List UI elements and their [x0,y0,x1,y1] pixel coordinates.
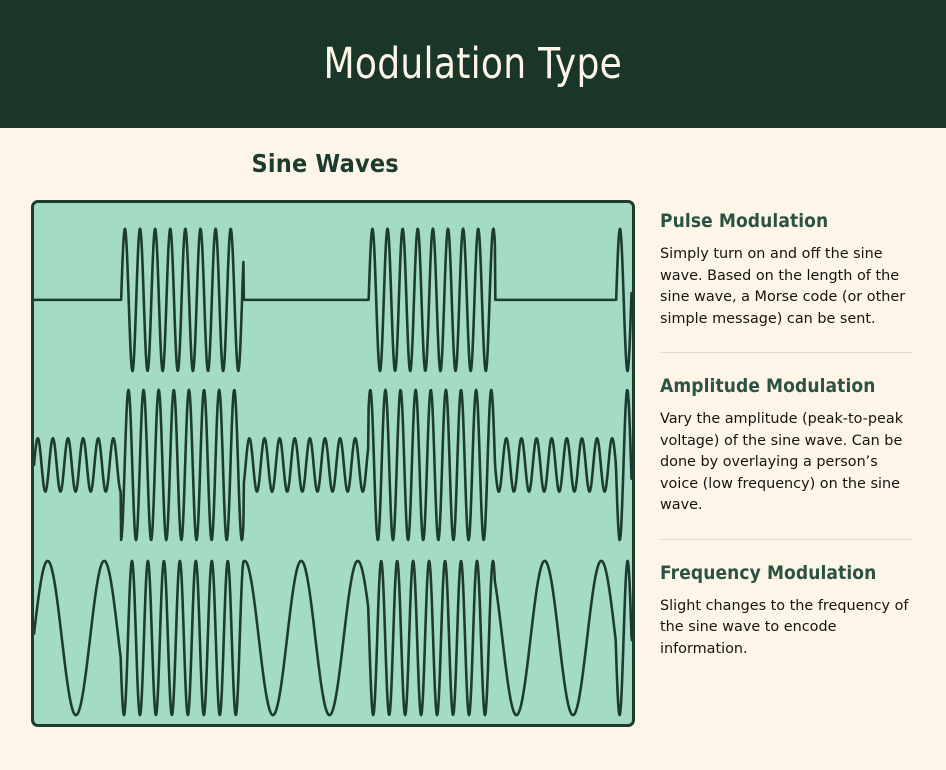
description-body: Simply turn on and off the sine wave. Ba… [660,244,912,330]
waveform-pulse [34,229,632,371]
description-column: Pulse Modulation Simply turn on and off … [660,210,912,664]
description-amplitude-modulation: Amplitude Modulation Vary the amplitude … [660,352,912,521]
description-title: Pulse Modulation [660,210,887,232]
waveform-plot [34,203,632,724]
description-frequency-modulation: Frequency Modulation Slight changes to t… [660,539,912,665]
description-body: Slight changes to the frequency of the s… [660,596,912,661]
waveform-panel [31,200,635,727]
page-content: Sine Waves Pulse Modulation Simply turn … [0,128,946,770]
description-pulse-modulation: Pulse Modulation Simply turn on and off … [660,210,912,334]
description-title: Amplitude Modulation [660,375,887,397]
waveform-fm [34,561,632,715]
page-header: Modulation Type [0,0,946,128]
chart-column: Sine Waves [31,128,635,727]
description-title: Frequency Modulation [660,562,887,584]
chart-heading: Sine Waves [31,128,575,200]
waveform-am [34,390,632,540]
description-body: Vary the amplitude (peak-to-peak voltage… [660,409,912,517]
page-title: Modulation Type [324,39,623,89]
